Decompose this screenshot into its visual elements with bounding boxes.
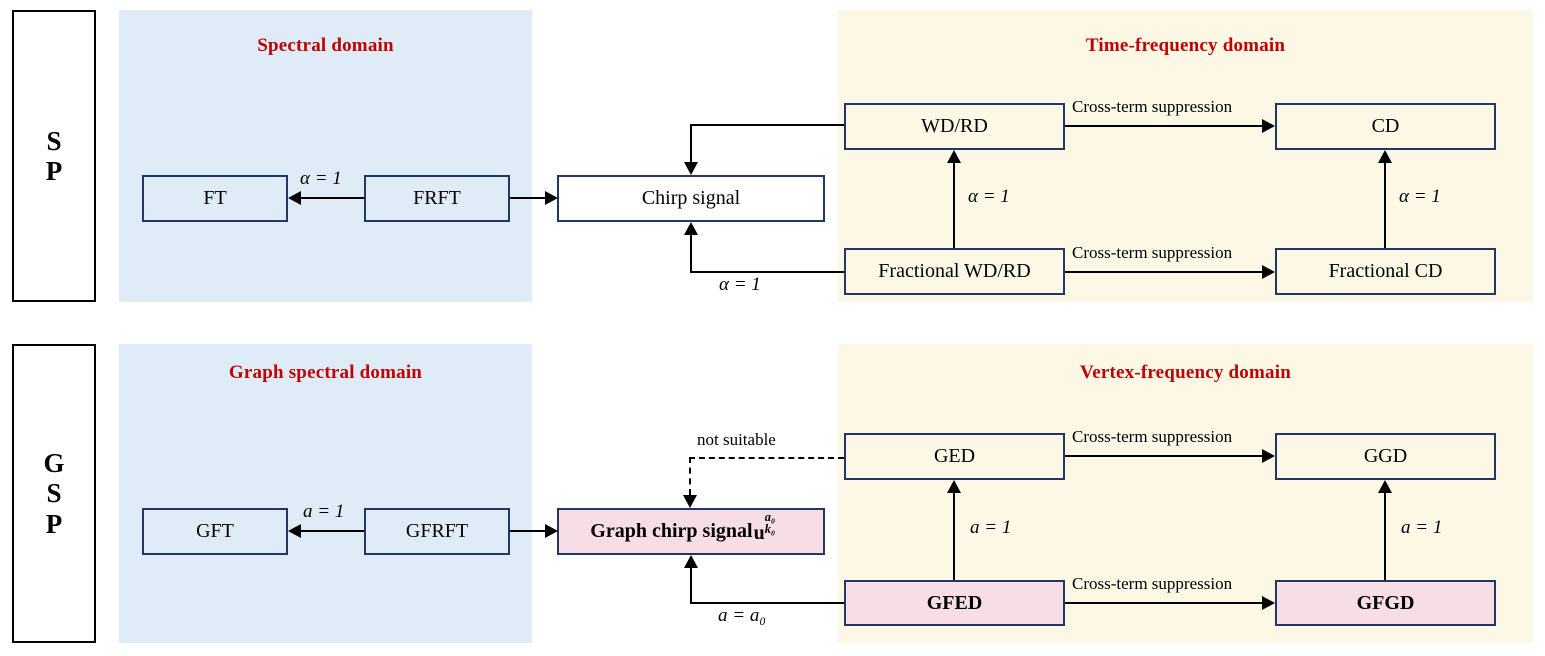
gsp-vertex-frequency-panel-title: Vertex-frequency domain [838, 362, 1533, 384]
edge-fcd-to-cd-line [1384, 163, 1386, 248]
edge-ged-to-ggd-line [1065, 455, 1263, 457]
rail-sp: S P [12, 10, 96, 302]
edge-gfed-to-chirp-vertical [690, 568, 692, 604]
rail-sp-line-1: S [46, 126, 61, 156]
edge-wd-to-chirp-horizontal [690, 124, 844, 126]
box-fractional-cd[interactable]: Fractional CD [1275, 248, 1496, 295]
box-frft[interactable]: FRFT [364, 175, 510, 222]
gsp-spectral-panel-title: Graph spectral domain [119, 362, 532, 384]
edge-gfrft-to-gft-label: a = 1 [303, 501, 344, 523]
edge-gfrft-to-chirp-arrowhead [545, 524, 558, 538]
edge-frft-to-ft-label: α = 1 [300, 168, 342, 190]
edge-frft-to-chirp-line [510, 197, 547, 199]
edge-wd-to-cd-label: Cross-term suppression [1072, 97, 1232, 117]
edge-fwd-to-chirp-vertical [690, 235, 692, 273]
edge-gfrft-to-chirp-line [510, 530, 547, 532]
edge-fwd-to-chirp-label: α = 1 [719, 274, 761, 296]
edge-frft-to-chirp-arrowhead [545, 191, 558, 205]
rail-gsp-line-2: S [46, 478, 61, 508]
box-graph-chirp-signal[interactable]: Graph chirp signal ua₀k₀ [557, 508, 825, 555]
edge-ged-to-ggd-label: Cross-term suppression [1072, 427, 1232, 447]
box-wd-rd[interactable]: WD/RD [844, 103, 1065, 150]
edge-gfed-to-chirp-label: a = a₀ [718, 605, 766, 627]
edge-fwd-to-wd-label: α = 1 [968, 186, 1010, 208]
rail-gsp: G S P [12, 344, 96, 643]
box-gft[interactable]: GFT [142, 508, 288, 555]
graph-chirp-signal-symbol: ua₀k₀ [754, 519, 792, 545]
edge-ged-to-chirp-vertical [689, 457, 691, 495]
edge-fcd-to-cd-label: α = 1 [1399, 186, 1441, 208]
box-gfed[interactable]: GFED [844, 580, 1065, 626]
edge-gfed-to-gfgd-arrowhead [1262, 596, 1275, 610]
edge-gfed-to-ged-line [953, 493, 955, 580]
edge-fwd-to-fcd-line [1065, 271, 1263, 273]
edge-gfed-to-chirp-horizontal [690, 602, 844, 604]
edge-fwd-to-fcd-arrowhead [1262, 265, 1275, 279]
box-ft[interactable]: FT [142, 175, 288, 222]
edge-fcd-to-cd-arrowhead [1378, 150, 1392, 163]
edge-gfgd-to-ggd-label: a = 1 [1401, 517, 1442, 539]
edge-frft-to-ft-arrowhead [288, 191, 301, 205]
edge-gfgd-to-ggd-line [1384, 493, 1386, 580]
edge-fwd-to-wd-line [953, 163, 955, 248]
edge-ged-to-ggd-arrowhead [1262, 449, 1275, 463]
sp-spectral-panel-title: Spectral domain [119, 35, 532, 57]
rail-gsp-line-1: G [43, 448, 64, 478]
edge-wd-to-chirp-vertical [690, 124, 692, 162]
edge-wd-to-cd-arrowhead [1262, 119, 1275, 133]
rail-sp-line-2: P [46, 156, 63, 186]
sp-time-frequency-panel-title: Time-frequency domain [838, 35, 1533, 57]
edge-gfed-to-ged-label: a = 1 [970, 517, 1011, 539]
edge-fwd-to-chirp-arrowhead [684, 222, 698, 235]
box-ggd[interactable]: GGD [1275, 433, 1496, 480]
edge-gfed-to-gfgd-label: Cross-term suppression [1072, 574, 1232, 594]
gsp-spectral-panel [119, 344, 532, 643]
edge-gfed-to-ged-arrowhead [947, 480, 961, 493]
edge-fwd-to-chirp-horizontal [690, 271, 844, 273]
edge-wd-to-cd-line [1065, 125, 1263, 127]
rail-gsp-line-3: P [46, 509, 63, 539]
graph-chirp-subscript: k₀ [765, 522, 776, 537]
edge-fwd-to-wd-arrowhead [947, 150, 961, 163]
box-gfrft[interactable]: GFRFT [364, 508, 510, 555]
edge-ged-to-chirp-arrowhead [683, 495, 697, 508]
graph-chirp-signal-text: Graph chirp signal [590, 520, 752, 543]
box-ged[interactable]: GED [844, 433, 1065, 480]
box-fractional-wd-rd[interactable]: Fractional WD/RD [844, 248, 1065, 295]
box-gfgd[interactable]: GFGD [1275, 580, 1496, 626]
box-chirp-signal[interactable]: Chirp signal [557, 175, 825, 222]
edge-gfgd-to-ggd-arrowhead [1378, 480, 1392, 493]
edge-gfed-to-gfgd-line [1065, 602, 1263, 604]
edge-gfed-to-chirp-arrowhead [684, 555, 698, 568]
edge-wd-to-chirp-arrowhead [684, 162, 698, 175]
edge-ged-to-chirp-label: not suitable [697, 430, 776, 450]
graph-chirp-symbol-u: u [754, 522, 765, 544]
box-cd[interactable]: CD [1275, 103, 1496, 150]
edge-gfrft-to-gft-line [298, 530, 364, 532]
edge-ged-to-chirp-horizontal [689, 457, 844, 459]
edge-frft-to-ft-line [298, 197, 364, 199]
edge-fwd-to-fcd-label: Cross-term suppression [1072, 243, 1232, 263]
diagram-canvas: Spectral domain Time-frequency domain S … [0, 0, 1545, 656]
edge-gfrft-to-gft-arrowhead [288, 524, 301, 538]
